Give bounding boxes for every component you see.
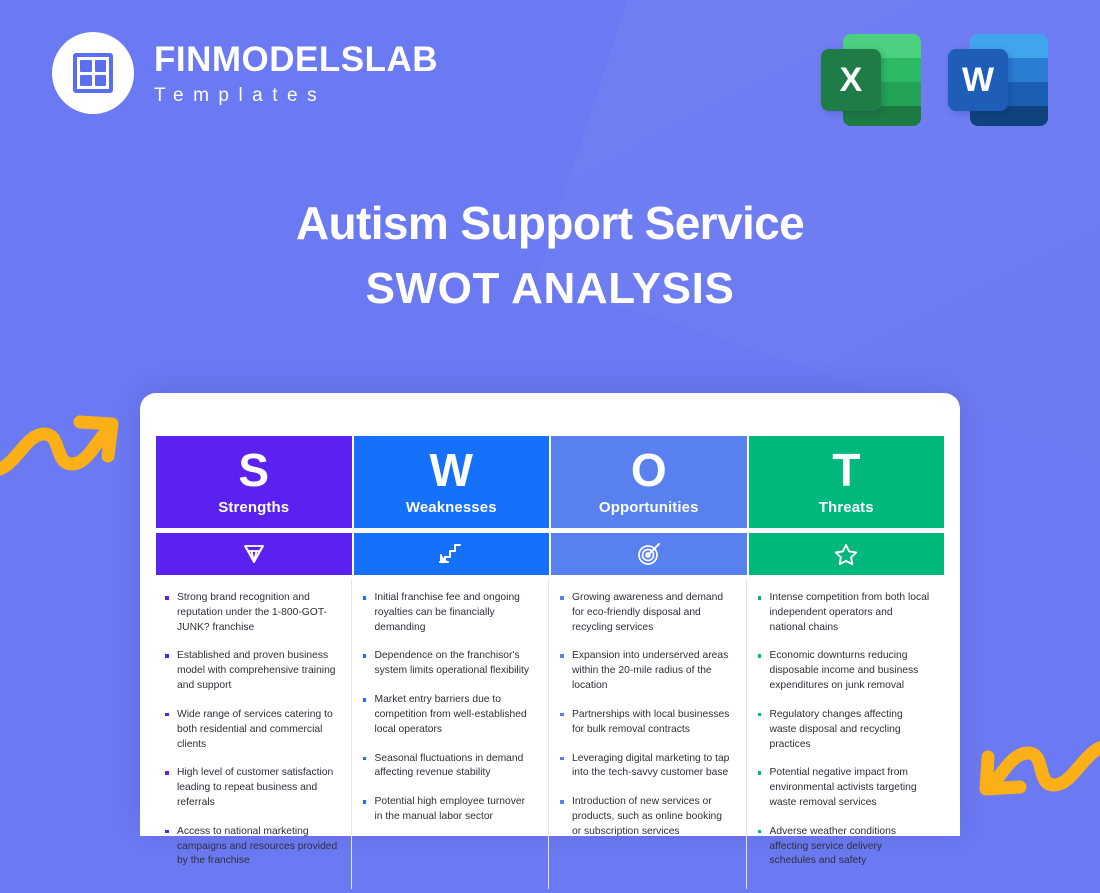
page-header: FINMODELSLAB Templates X W xyxy=(52,32,1048,128)
descending-stairs-icon xyxy=(438,542,464,566)
list-item: Economic downturns reducing disposable i… xyxy=(755,649,931,693)
swot-letter-t: T xyxy=(832,448,860,492)
list-item: Access to national marketing campaigns a… xyxy=(162,825,338,869)
bullet-list-threats: Intense competition from both local inde… xyxy=(755,591,931,869)
list-item: Intense competition from both local inde… xyxy=(755,591,931,635)
bullet-list-strengths: Strong brand recognition and reputation … xyxy=(162,591,338,869)
swot-label-threats: Threats xyxy=(819,499,874,516)
list-item: Adverse weather conditions affecting ser… xyxy=(755,825,931,869)
swot-body-threats: Intense competition from both local inde… xyxy=(749,575,945,893)
swot-header-row: S Strengths W Weaknesses O Opportunities… xyxy=(156,436,944,893)
list-item: Seasonal fluctuations in demand affectin… xyxy=(360,752,536,782)
page-subtitle: SWOT ANALYSIS xyxy=(0,264,1100,314)
swot-body-weaknesses: Initial franchise fee and ongoing royalt… xyxy=(354,575,550,893)
swot-icon-cell-strengths xyxy=(156,533,352,575)
word-badge-letter: W xyxy=(948,49,1008,111)
swot-letter-o: O xyxy=(631,448,667,492)
swot-header-opportunities[interactable]: O Opportunities xyxy=(551,436,747,528)
list-item: Growing awareness and demand for eco-fri… xyxy=(557,591,733,635)
list-item: Initial franchise fee and ongoing royalt… xyxy=(360,591,536,635)
swot-label-strengths: Strengths xyxy=(218,499,289,516)
target-icon xyxy=(636,542,662,566)
swot-header-weaknesses[interactable]: W Weaknesses xyxy=(354,436,550,528)
swot-label-weaknesses: Weaknesses xyxy=(406,499,497,516)
list-item: Leveraging digital marketing to tap into… xyxy=(557,752,733,782)
grid-icon xyxy=(73,53,113,93)
list-item: Expansion into underserved areas within … xyxy=(557,649,733,693)
list-item: Potential high employee turnover in the … xyxy=(360,795,536,825)
word-file-icon: W xyxy=(948,32,1048,128)
swot-header-threats[interactable]: T Threats xyxy=(749,436,945,528)
star-icon xyxy=(833,542,859,566)
brand-subtitle: Templates xyxy=(154,86,438,105)
swot-header-strengths[interactable]: S Strengths xyxy=(156,436,352,528)
bullet-list-opportunities: Growing awareness and demand for eco-fri… xyxy=(557,591,733,840)
page-title: Autism Support Service xyxy=(0,196,1100,250)
diamond-icon xyxy=(241,542,267,566)
swot-letter-w: W xyxy=(430,448,473,492)
swot-icon-cell-opportunities xyxy=(551,533,747,575)
list-item: Dependence on the franchisor's system li… xyxy=(360,649,536,679)
list-item: Regulatory changes affecting waste dispo… xyxy=(755,708,931,752)
list-item: Partnerships with local businesses for b… xyxy=(557,708,733,738)
brand-text: FINMODELSLAB Templates xyxy=(154,42,438,105)
logo-circle xyxy=(52,32,134,114)
list-item: Market entry barriers due to competition… xyxy=(360,693,536,737)
squiggle-arrow-down-left-icon xyxy=(976,739,1100,836)
list-item: Established and proven business model wi… xyxy=(162,649,338,693)
list-item: Strong brand recognition and reputation … xyxy=(162,591,338,635)
brand-name: FINMODELSLAB xyxy=(154,42,438,77)
excel-file-icon: X xyxy=(821,32,921,128)
list-item: Potential negative impact from environme… xyxy=(755,766,931,810)
list-item: High level of customer satisfaction lead… xyxy=(162,766,338,810)
file-format-badges: X W xyxy=(821,32,1048,128)
swot-card: S Strengths W Weaknesses O Opportunities… xyxy=(140,393,960,836)
swot-body-strengths: Strong brand recognition and reputation … xyxy=(156,575,352,893)
squiggle-arrow-up-right-icon xyxy=(0,400,122,485)
swot-icon-cell-threats xyxy=(749,533,945,575)
list-item: Introduction of new services or products… xyxy=(557,795,733,839)
excel-badge-letter: X xyxy=(821,49,881,111)
swot-letter-s: S xyxy=(238,448,269,492)
swot-label-opportunities: Opportunities xyxy=(599,499,699,516)
list-item: Wide range of services catering to both … xyxy=(162,708,338,752)
swot-body-opportunities: Growing awareness and demand for eco-fri… xyxy=(551,575,747,893)
bullet-list-weaknesses: Initial franchise fee and ongoing royalt… xyxy=(360,591,536,825)
page-title-block: Autism Support Service SWOT ANALYSIS xyxy=(0,196,1100,314)
swot-icon-cell-weaknesses xyxy=(354,533,550,575)
